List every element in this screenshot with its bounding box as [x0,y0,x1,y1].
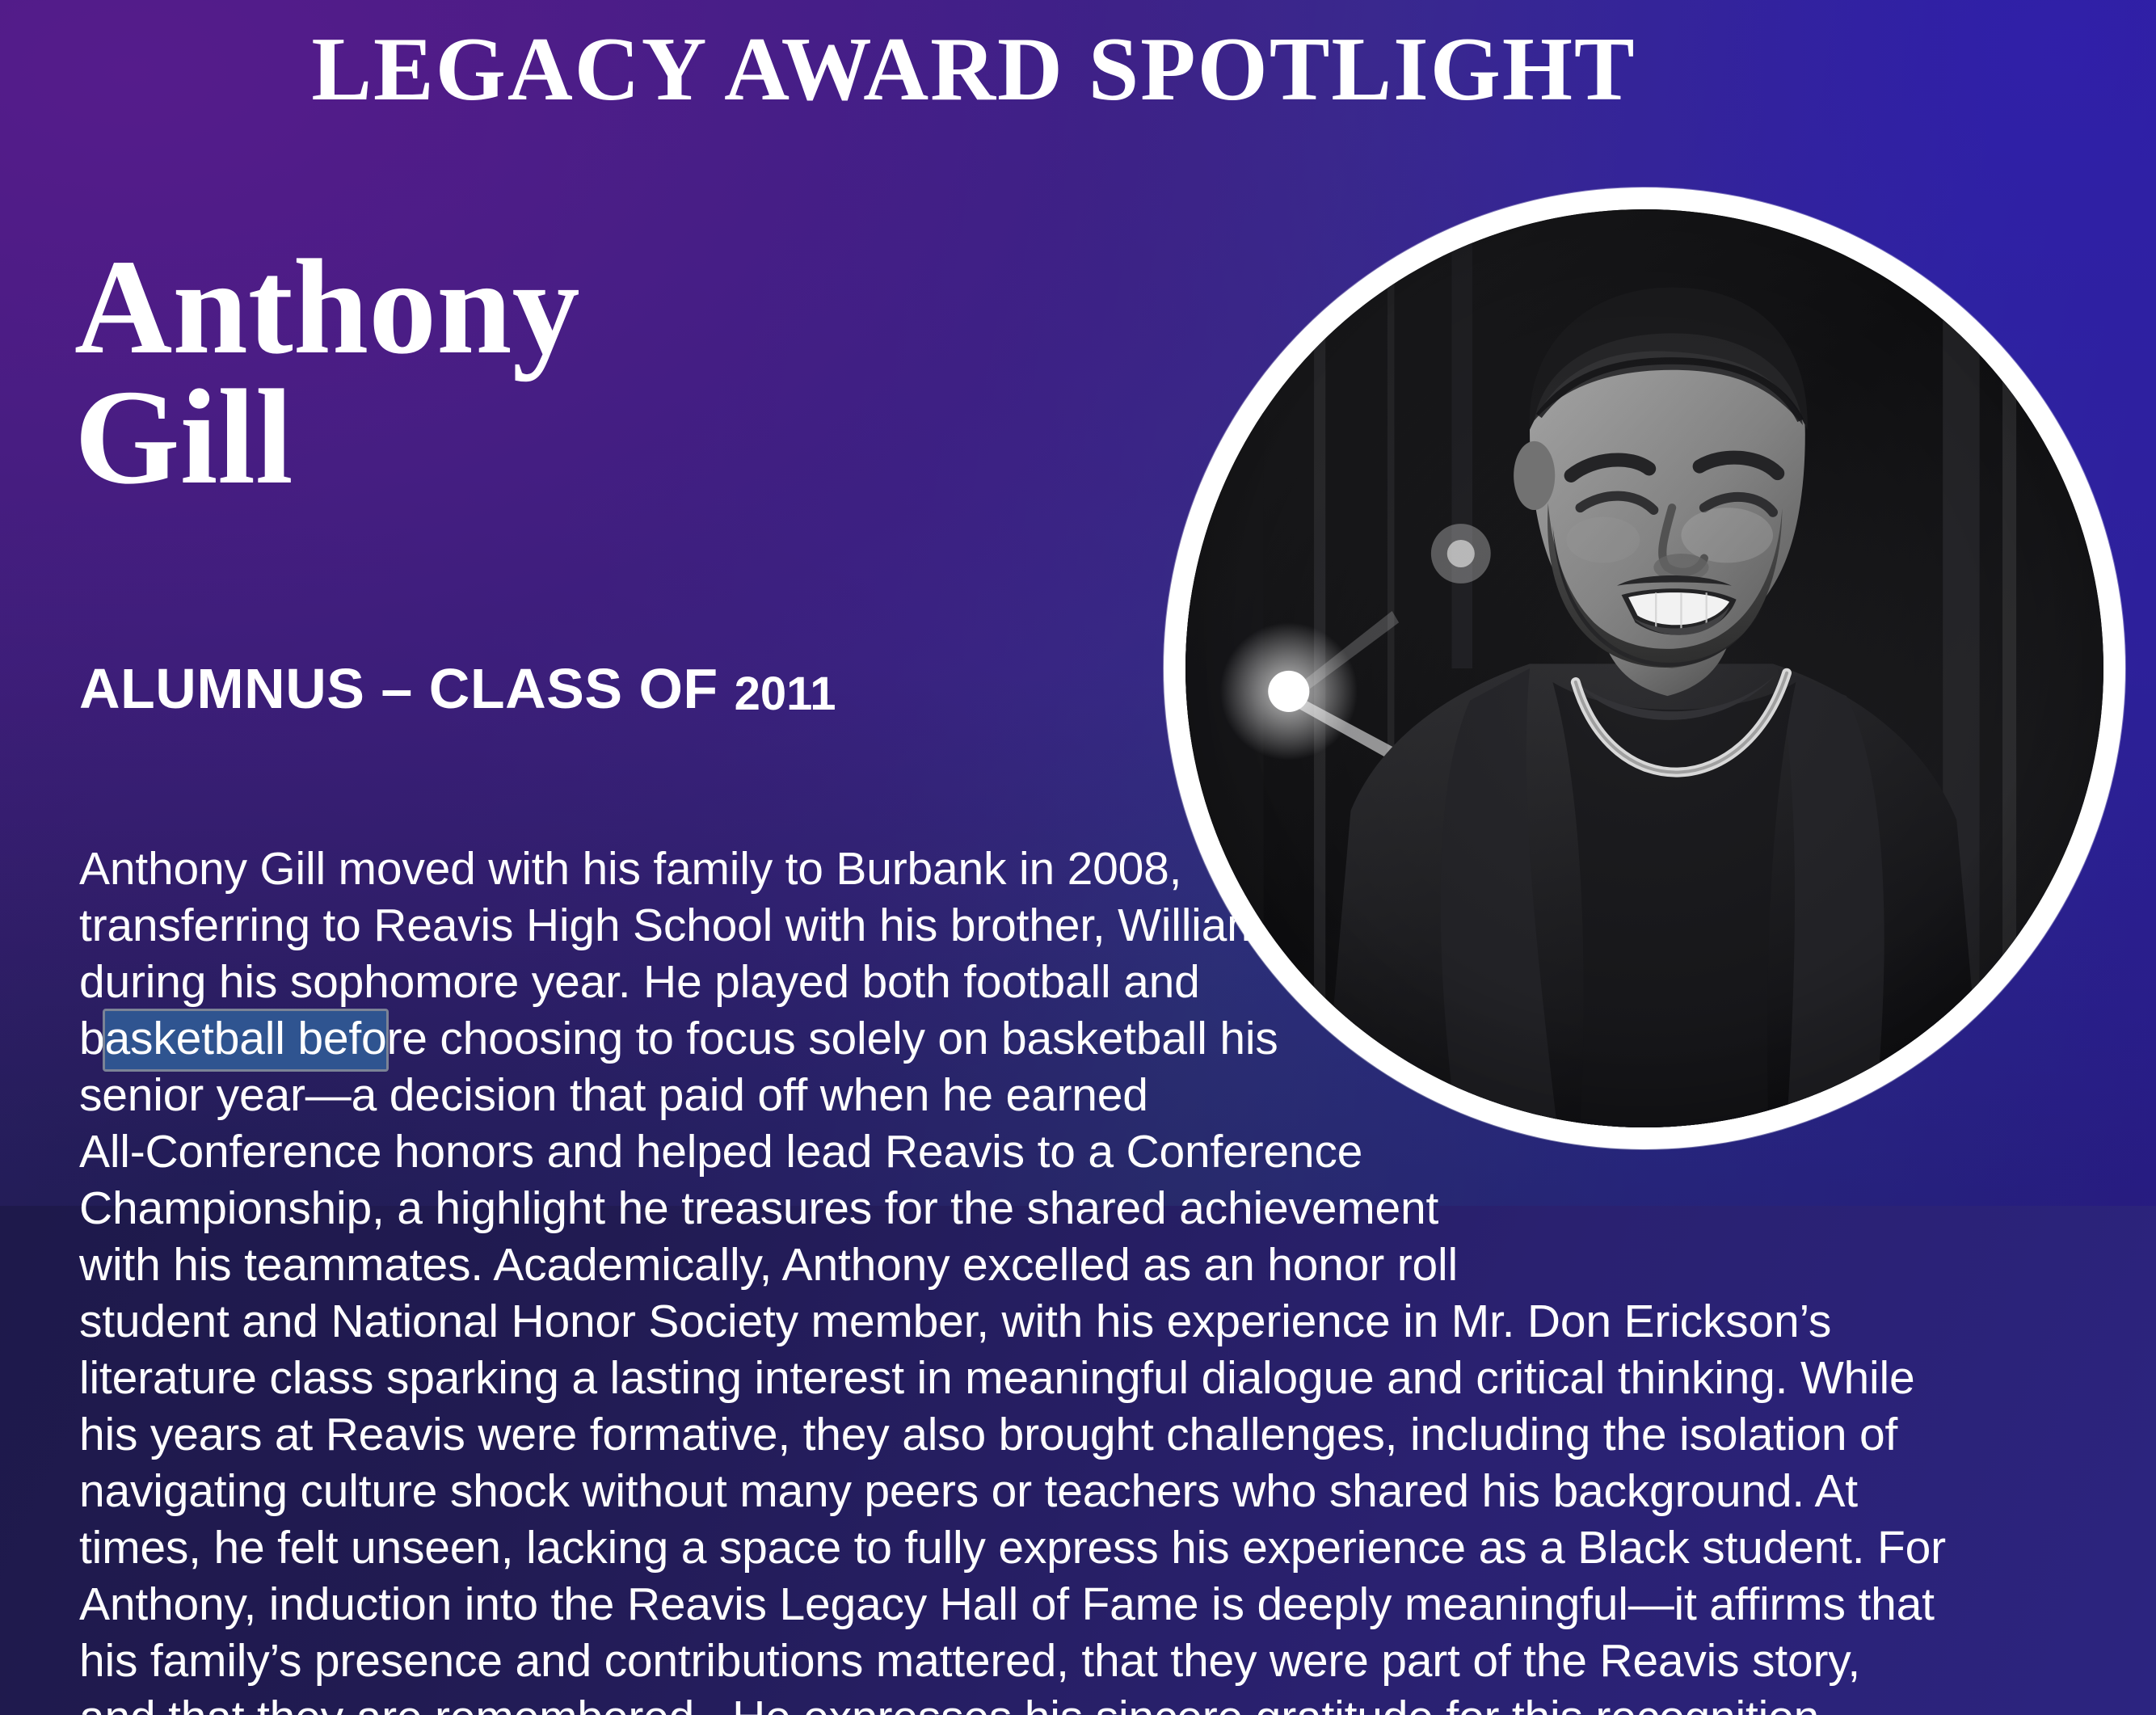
honoree-name: Anthony Gill [74,242,580,504]
bio-line: and that they are remembered. He express… [79,1689,1938,1715]
bio-line: navigating culture shock without many pe… [79,1463,1938,1519]
bio-line: literature class sparking a lasting inte… [79,1350,1938,1406]
honoree-photo [1185,209,2103,1127]
page-title: LEGACY AWARD SPOTLIGHT [0,23,1948,118]
class-year: 2011 [735,668,836,720]
honoree-last-name: Gill [74,373,580,503]
honoree-subtitle: ALUMNUS – CLASS OF 2011 [79,656,836,721]
honoree-first-name: Anthony [74,242,580,373]
bio-line: times, he felt unseen, lacking a space t… [79,1519,1938,1576]
bio-text-after-selection: re choosing to focus solely on basketbal… [386,1013,1278,1064]
bio-line: student and National Honor Society membe… [79,1293,1938,1350]
bio-line: with his teammates. Academically, Anthon… [79,1237,1938,1293]
subtitle-prefix: ALUMNUS – CLASS OF [79,657,735,720]
spotlight-graphic: LEGACY AWARD SPOTLIGHT Anthony Gill ALUM… [0,0,2156,1715]
bio-text-before-selection: b [79,1013,105,1064]
honoree-portrait-ring [1164,188,2125,1149]
bio-line: Championship, a highlight he treasures f… [79,1180,1938,1237]
text-selection-highlight[interactable]: asketball befo [105,1011,387,1069]
bio-line: his family’s presence and contributions … [79,1633,1938,1689]
bio-line: his years at Reavis were formative, they… [79,1406,1938,1463]
bio-line: Anthony, induction into the Reavis Legac… [79,1576,1938,1633]
